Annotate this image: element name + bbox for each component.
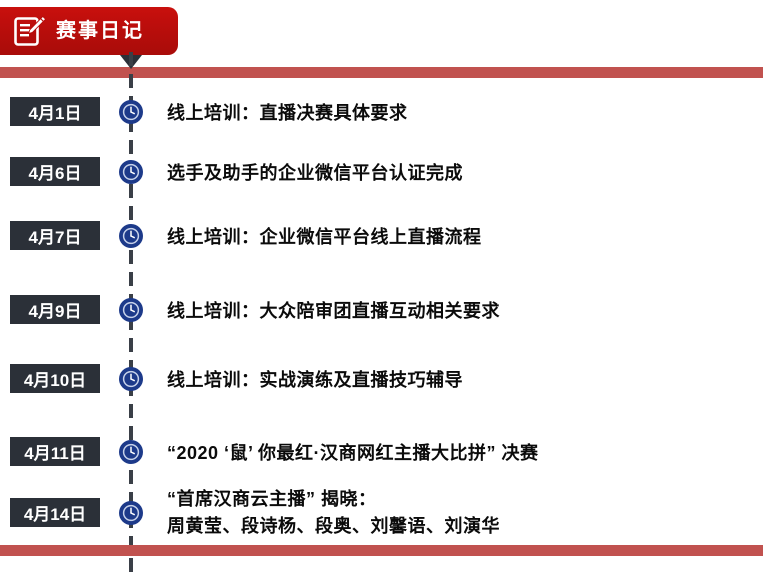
- date-badge: 4月11日: [10, 437, 100, 466]
- clock-icon: [118, 500, 144, 526]
- entry-text: 线上培训：实战演练及直播技巧辅导: [167, 364, 463, 393]
- header-title: 赛事日记: [56, 21, 144, 41]
- entry-text-line-2: 周黄莹、段诗杨、段奥、刘馨语、刘演华: [167, 513, 500, 540]
- entry-text: 线上培训：直播决赛具体要求: [167, 97, 408, 126]
- date-badge: 4月7日: [10, 221, 100, 250]
- date-badge: 4月14日: [10, 498, 100, 527]
- entry-text: 线上培训：企业微信平台线上直播流程: [167, 221, 482, 250]
- list-item: 4月6日 选手及助手的企业微信平台认证完成: [0, 157, 763, 187]
- list-item: 4月9日 线上培训：大众陪审团直播互动相关要求: [0, 295, 763, 325]
- diary-header-badge: 赛事日记: [0, 7, 178, 55]
- bottom-divider-bar: [0, 545, 763, 556]
- clock-icon: [118, 366, 144, 392]
- clock-icon: [118, 99, 144, 125]
- entry-text: “2020 ‘鼠’ 你最红·汉商网红主播大比拼” 决赛: [167, 437, 539, 466]
- date-badge: 4月9日: [10, 295, 100, 324]
- entry-text: 选手及助手的企业微信平台认证完成: [167, 157, 463, 186]
- notepad-pencil-icon: [12, 13, 48, 49]
- entry-text-line-1: “首席汉商云主播” 揭晓：: [167, 486, 500, 513]
- clock-icon: [118, 223, 144, 249]
- entry-text-block: “首席汉商云主播” 揭晓： 周黄莹、段诗杨、段奥、刘馨语、刘演华: [167, 486, 500, 540]
- list-item: 4月14日 “首席汉商云主播” 揭晓： 周黄莹、段诗杨、段奥、刘馨语、刘演华: [0, 498, 763, 528]
- list-item: 4月7日 线上培训：企业微信平台线上直播流程: [0, 221, 763, 251]
- date-badge: 4月6日: [10, 157, 100, 186]
- entry-text: 线上培训：大众陪审团直播互动相关要求: [167, 295, 500, 324]
- clock-icon: [118, 159, 144, 185]
- top-divider-bar: [0, 67, 763, 78]
- date-badge: 4月10日: [10, 364, 100, 393]
- list-item: 4月10日 线上培训：实战演练及直播技巧辅导: [0, 364, 763, 394]
- clock-icon: [118, 439, 144, 465]
- list-item: 4月1日 线上培训：直播决赛具体要求: [0, 97, 763, 127]
- list-item: 4月11日 “2020 ‘鼠’ 你最红·汉商网红主播大比拼” 决赛: [0, 437, 763, 467]
- clock-icon: [118, 297, 144, 323]
- date-badge: 4月1日: [10, 97, 100, 126]
